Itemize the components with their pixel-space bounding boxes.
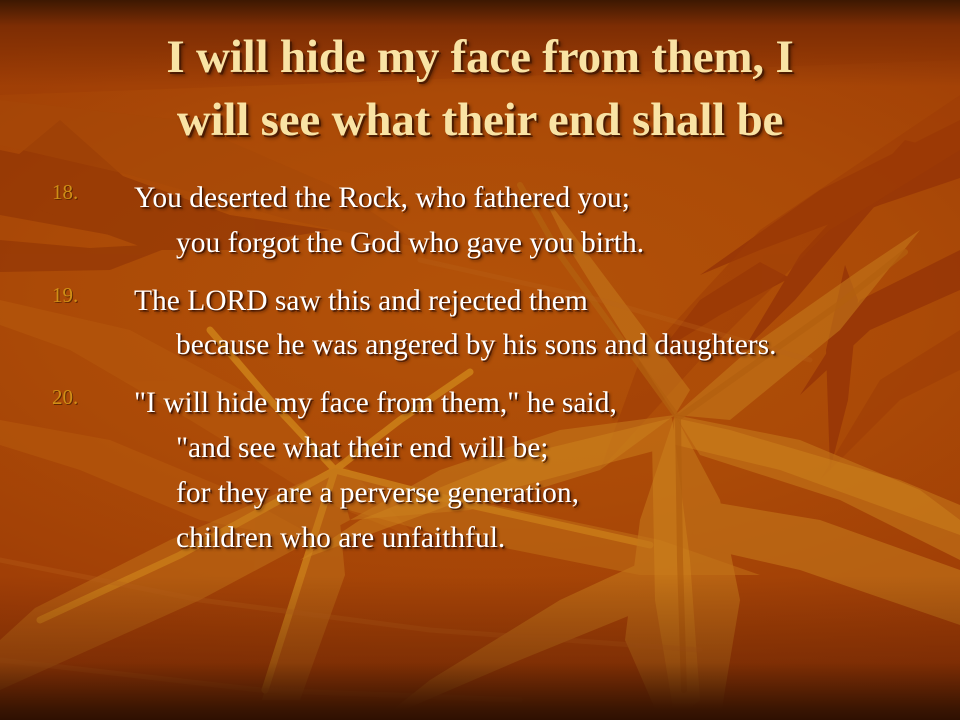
- verse-line: The LORD saw this and rejected them: [134, 279, 950, 324]
- verse-text: You deserted the Rock, who fathered you;…: [134, 176, 950, 266]
- verse-item: 19. The LORD saw this and rejected them …: [0, 279, 960, 369]
- verse-line: children who are unfaithful.: [134, 516, 950, 561]
- verse-number: 19.: [52, 285, 98, 306]
- slide-title: I will hide my face from them, I will se…: [40, 26, 920, 151]
- verse-text: "I will hide my face from them," he said…: [134, 381, 950, 560]
- verse-number: 18.: [52, 182, 98, 203]
- title-line-2: will see what their end shall be: [40, 89, 920, 152]
- verse-line: you forgot the God who gave you birth.: [134, 221, 950, 266]
- title-line-1: I will hide my face from them, I: [40, 26, 920, 89]
- verse-number: 20.: [52, 387, 98, 408]
- slide-body: 18. You deserted the Rock, who fathered …: [0, 176, 960, 574]
- verse-line: "and see what their end will be;: [134, 426, 950, 471]
- verse-line: because he was angered by his sons and d…: [134, 323, 950, 368]
- verse-line: for they are a perverse generation,: [134, 471, 950, 516]
- verse-item: 18. You deserted the Rock, who fathered …: [0, 176, 960, 266]
- verse-line: You deserted the Rock, who fathered you;: [134, 176, 950, 221]
- verse-text: The LORD saw this and rejected them beca…: [134, 279, 950, 369]
- presentation-slide: I will hide my face from them, I will se…: [0, 0, 960, 720]
- verse-line: "I will hide my face from them," he said…: [134, 381, 950, 426]
- verse-item: 20. "I will hide my face from them," he …: [0, 381, 960, 560]
